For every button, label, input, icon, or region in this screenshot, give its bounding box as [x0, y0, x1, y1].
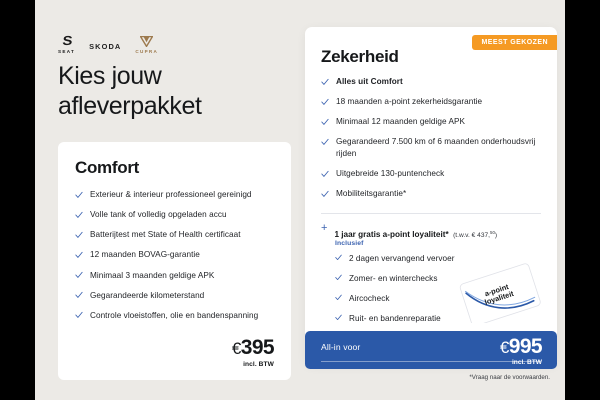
page-title: Kies jouw afleverpakket [58, 62, 278, 121]
check-icon [321, 190, 329, 198]
check-icon [75, 311, 83, 319]
loyalty-included-label: Inclusief [335, 240, 363, 247]
zekerheid-price-value: 995 [509, 335, 542, 358]
cupra-mark-icon [140, 36, 153, 48]
plus-icon: + [321, 224, 327, 233]
check-icon [75, 251, 83, 259]
list-item-label: Minimaal 3 maanden geldige APK [90, 270, 214, 282]
screenshot-stage: S SEAT SKODA CUPRA Kies jouw afle [0, 0, 600, 400]
list-item: Volle tank of volledig opgeladen accu [75, 209, 274, 221]
list-item-label: Zomer- en winterchecks [349, 273, 437, 285]
skoda-logo: SKODA [89, 42, 121, 54]
list-item-label: Mobiliteitsgarantie* [336, 188, 406, 200]
seat-logo-label: SEAT [58, 49, 75, 54]
loyalty-worth-prefix: (t.w.v. € 437, [453, 232, 490, 239]
check-icon [75, 271, 83, 279]
comfort-price-note: incl. BTW [232, 361, 274, 368]
footnote: *Vraag naar de voorwaarden. [469, 374, 550, 381]
list-item: Gegarandeerd 7.500 km of 6 maanden onder… [321, 136, 545, 159]
list-item-label: Exterieur & interieur professioneel gere… [90, 189, 252, 201]
check-icon [321, 170, 329, 178]
list-item-label: Minimaal 12 maanden geldige APK [336, 116, 465, 128]
allin-label: All-in voor [321, 342, 360, 352]
list-item-label: Gegarandeerd 7.500 km of 6 maanden onder… [336, 136, 545, 159]
check-icon [321, 78, 329, 86]
comfort-price-block: €395 incl. BTW [232, 337, 274, 368]
check-icon [335, 294, 342, 301]
zekerheid-price-block: €995 incl. BTW [500, 336, 542, 366]
status-badge: MEEST GEKOZEN [472, 35, 557, 50]
list-item: Minimaal 12 maanden geldige APK [321, 116, 545, 128]
seat-logo: S SEAT [58, 35, 75, 54]
check-icon [321, 138, 329, 146]
zekerheid-feature-list: Alles uit Comfort 18 maanden a-point zek… [321, 76, 545, 208]
list-item: Exterieur & interieur professioneel gere… [75, 189, 274, 201]
list-item: Controle vloeistoffen, olie en bandenspa… [75, 310, 274, 322]
comfort-feature-list: Exterieur & interieur professioneel gere… [75, 189, 274, 321]
check-icon [335, 314, 342, 321]
list-item: Alles uit Comfort [321, 76, 545, 88]
loyalty-worth: (t.w.v. € 437,50) [453, 232, 497, 239]
list-item: Minimaal 3 maanden geldige APK [75, 270, 274, 282]
comfort-price: €395 [232, 337, 274, 358]
page-canvas: S SEAT SKODA CUPRA Kies jouw afle [35, 0, 565, 400]
brand-logo-bar: S SEAT SKODA CUPRA [58, 28, 158, 54]
section-divider [321, 213, 541, 214]
list-item: 12 maanden BOVAG-garantie [75, 249, 274, 261]
list-item-label: 18 maanden a-point zekerheidsgarantie [336, 96, 482, 108]
currency-symbol: € [232, 339, 241, 358]
seat-mark-icon: S [61, 35, 71, 47]
check-icon [321, 118, 329, 126]
check-icon [75, 211, 83, 219]
check-icon [335, 274, 342, 281]
zekerheid-title: Zekerheid [321, 47, 399, 67]
zekerheid-price-note: incl. BTW [500, 359, 542, 366]
zekerheid-price: €995 [500, 336, 542, 357]
list-item-label: Alles uit Comfort [336, 76, 403, 88]
list-item: Uitgebreide 130-puntencheck [321, 168, 545, 180]
comfort-package-card[interactable]: Comfort Exterieur & interieur profession… [58, 142, 291, 380]
loyalty-card-image: a-point loyaliteit [451, 259, 547, 323]
zekerheid-package-card[interactable]: MEEST GEKOZEN Zekerheid Alles uit Comfor… [305, 27, 557, 365]
skoda-logo-label: SKODA [89, 42, 121, 51]
check-icon [75, 291, 83, 299]
check-icon [321, 98, 329, 106]
list-item: Batterijtest met State of Health certifi… [75, 229, 274, 241]
check-icon [75, 231, 83, 239]
comfort-title: Comfort [75, 158, 274, 178]
list-item-label: Ruit- en bandenreparatie [349, 313, 441, 325]
comfort-price-value: 395 [241, 336, 274, 359]
list-item-label: Gegarandeerde kilometerstand [90, 290, 204, 302]
list-item: 18 maanden a-point zekerheidsgarantie [321, 96, 545, 108]
list-item-label: 12 maanden BOVAG-garantie [90, 249, 200, 261]
list-item: Gegarandeerde kilometerstand [75, 290, 274, 302]
list-item: Mobiliteitsgarantie* [321, 188, 545, 200]
list-item-label: Volle tank of volledig opgeladen accu [90, 209, 227, 221]
check-icon [75, 191, 83, 199]
list-item-label: Controle vloeistoffen, olie en bandenspa… [90, 310, 258, 322]
currency-symbol: € [500, 338, 509, 357]
loyalty-title: 1 jaar gratis a-point loyaliteit* [334, 230, 448, 239]
loyalty-worth-suffix: ) [495, 232, 497, 239]
zekerheid-price-bar[interactable]: All-in voor €995 incl. BTW [305, 331, 557, 369]
check-icon [335, 254, 342, 261]
list-item-label: Uitgebreide 130-puntencheck [336, 168, 444, 180]
list-item-label: 2 dagen vervangend vervoer [349, 253, 455, 265]
cupra-logo: CUPRA [135, 36, 158, 54]
list-item-label: Batterijtest met State of Health certifi… [90, 229, 241, 241]
cupra-logo-label: CUPRA [135, 49, 158, 54]
left-column: S SEAT SKODA CUPRA Kies jouw afle [35, 0, 300, 400]
list-item-label: Aircocheck [349, 293, 390, 305]
